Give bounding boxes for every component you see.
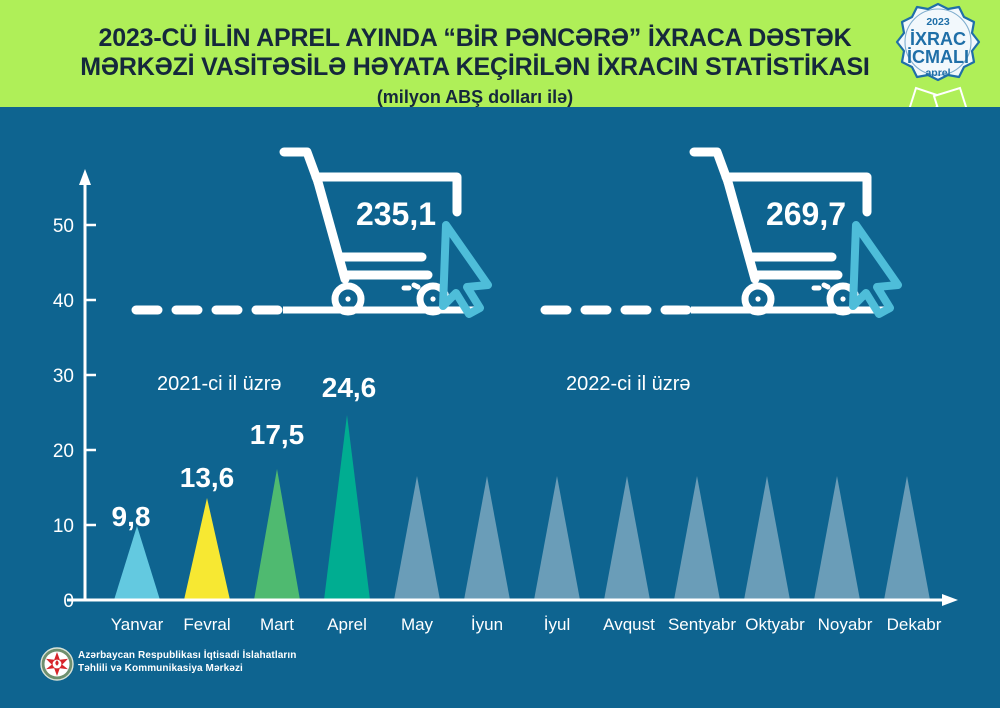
cart-value-2022: 269,7	[766, 196, 846, 232]
footer-org-line-2: Təhlili və Kommunikasiya Mərkəzi	[78, 662, 296, 675]
bar-value-aprel: 24,6	[322, 372, 377, 403]
y-tick-label-30: 30	[53, 366, 74, 387]
y-tick-label-40: 40	[53, 291, 74, 312]
badge-line-2: İCMALI	[907, 47, 969, 67]
footer-organization-name: Azərbaycan Respublikası İqtisadi İslahat…	[78, 649, 296, 675]
badge-line-1: İXRAC	[910, 29, 966, 49]
x-tick-label-dekabr: Dekabr	[887, 615, 942, 634]
badge-month: aprel	[925, 67, 950, 79]
header-banner: 2023-CÜ İLİN APREL AYINDA “BİR PƏNCƏRƏ” …	[0, 0, 1000, 107]
x-tick-label-sentyabr: Sentyabr	[668, 615, 736, 634]
x-tick-label-iyun: İyun	[471, 615, 503, 634]
bar-value-fevral: 13,6	[180, 462, 235, 493]
x-tick-label-mart: Mart	[260, 615, 294, 634]
azerbaijan-emblem-icon	[40, 647, 74, 681]
infographic-root: 2023-CÜ İLİN APREL AYINDA “BİR PƏNCƏRƏ” …	[0, 0, 1000, 708]
page-subtitle: (milyon ABŞ dolları ilə)	[60, 85, 890, 109]
header-title-block: 2023-CÜ İLİN APREL AYINDA “BİR PƏNCƏRƏ” …	[60, 24, 890, 109]
x-tick-label-avqust: Avqust	[603, 615, 655, 634]
x-tick-label-aprel: Aprel	[327, 615, 367, 634]
x-tick-label-noyabr: Noyabr	[818, 615, 873, 634]
page-title-line-2: MƏRKƏZİ VASİTƏSİLƏ HƏYATA KEÇİRİLƏN İXRA…	[60, 53, 890, 82]
bar-value-mart: 17,5	[250, 419, 305, 450]
x-tick-label-iyul: İyul	[544, 615, 570, 634]
page-title-line-1: 2023-CÜ İLİN APREL AYINDA “BİR PƏNCƏRƏ” …	[60, 24, 890, 53]
x-tick-label-may: May	[401, 615, 434, 634]
cart-value-2021: 235,1	[356, 196, 436, 232]
reference-label-2022: 2022-ci il üzrə	[566, 373, 691, 395]
footer-logo-block: Azərbaycan Respublikası İqtisadi İslahat…	[40, 645, 440, 693]
x-tick-label-oktyabr: Oktyabr	[745, 615, 805, 634]
reference-label-2021: 2021-ci il üzrə	[157, 373, 282, 395]
y-tick-label-50: 50	[53, 216, 74, 237]
badge-year: 2023	[926, 16, 950, 28]
y-tick-label-10: 10	[53, 516, 74, 537]
footer-org-line-1: Azərbaycan Respublikası İqtisadi İslahat…	[78, 649, 296, 662]
y-tick-label-20: 20	[53, 441, 74, 462]
x-tick-label-fevral: Fevral	[183, 615, 230, 634]
x-tick-label-yanvar: Yanvar	[111, 615, 164, 634]
export-statistics-chart: 50 40 30 20 10 0	[0, 107, 1000, 708]
bar-value-yanvar: 9,8	[112, 501, 151, 532]
